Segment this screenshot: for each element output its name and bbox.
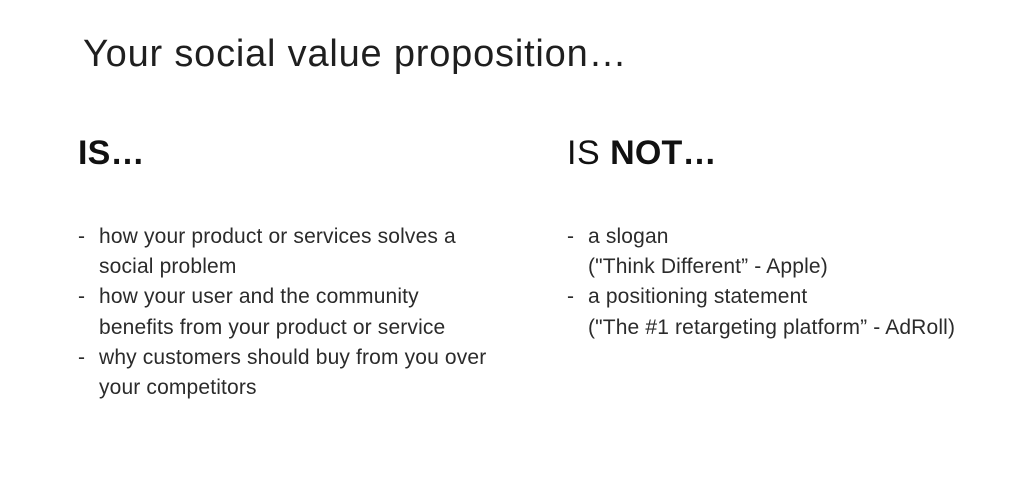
list-item: - how your product or services solves a … <box>78 222 548 282</box>
bullet-dash-icon: - <box>78 343 94 373</box>
bullet-dash-icon: - <box>567 282 583 312</box>
list-item-line: social problem <box>99 252 548 282</box>
list-item: - how your user and the community benefi… <box>78 282 548 342</box>
slide-canvas: Your social value proposition… IS… - how… <box>0 0 1024 499</box>
list-item-line: how your product or services solves a <box>99 222 548 252</box>
column-is: IS… - how your product or services solve… <box>78 133 548 403</box>
list-item-line: a slogan <box>588 222 1007 252</box>
list-item-line: a positioning statement <box>588 282 1007 312</box>
column-is-not-heading: IS NOT… <box>567 133 1007 173</box>
list-item-line: why customers should buy from you over <box>99 343 548 373</box>
bullet-dash-icon: - <box>567 222 583 252</box>
list-item: - a positioning statement ("The #1 retar… <box>567 282 1007 342</box>
list-item: - a slogan ("Think Different” - Apple) <box>567 222 1007 282</box>
list-item-line: your competitors <box>99 373 548 403</box>
list-item-example: ("The #1 retargeting platform” - AdRoll) <box>588 313 1007 343</box>
page-title: Your social value proposition… <box>83 31 627 77</box>
column-is-bullet-list: - how your product or services solves a … <box>78 222 548 403</box>
bullet-dash-icon: - <box>78 282 94 312</box>
column-is-heading-text: IS… <box>78 134 145 172</box>
list-item-line: how your user and the community <box>99 282 548 312</box>
list-item-example: ("Think Different” - Apple) <box>588 252 1007 282</box>
column-is-not: IS NOT… - a slogan ("Think Different” - … <box>567 133 1007 343</box>
column-is-heading: IS… <box>78 133 548 173</box>
column-is-not-heading-emphasis: NOT… <box>610 134 717 172</box>
list-item-line: benefits from your product or service <box>99 313 548 343</box>
list-item: - why customers should buy from you over… <box>78 343 548 403</box>
bullet-dash-icon: - <box>78 222 94 252</box>
column-is-not-bullet-list: - a slogan ("Think Different” - Apple) -… <box>567 222 1007 343</box>
column-is-not-heading-prefix: IS <box>567 134 610 172</box>
